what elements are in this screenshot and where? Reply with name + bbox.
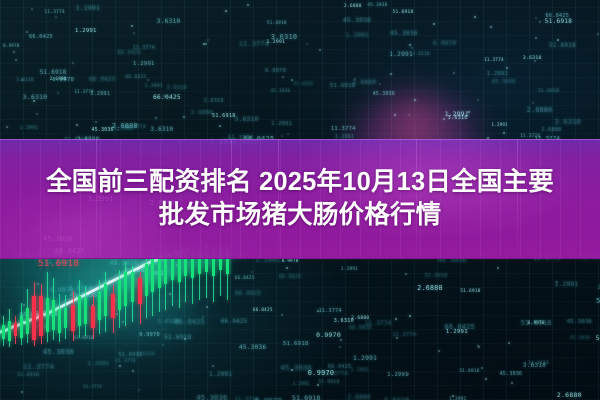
candle-body <box>104 284 107 316</box>
background-spark <box>532 102 534 104</box>
background-data-digit: 1.2991 <box>76 5 101 12</box>
background-data-digit: 51.6918 <box>460 289 480 294</box>
background-spark <box>57 92 59 94</box>
background-data-digit: 51.6918 <box>318 380 339 385</box>
background-data-digit: 1.2991 <box>133 61 155 67</box>
background-spark <box>438 350 440 352</box>
background-spark <box>478 346 480 348</box>
background-spark <box>390 73 392 75</box>
background-spark <box>535 17 537 19</box>
background-spark <box>6 126 8 128</box>
candle-body <box>32 296 36 340</box>
candle-body <box>20 316 23 338</box>
background-data-digit: 51.6918 <box>17 373 39 378</box>
background-spark <box>497 267 499 269</box>
background-data-digit: 1.2991 <box>487 71 509 77</box>
background-spark <box>287 133 289 135</box>
candle-body <box>14 323 17 336</box>
background-spark <box>119 365 121 367</box>
background-data-digit: 0.9970 <box>433 40 456 47</box>
background-spark <box>534 60 536 62</box>
background-data-digit: 3.6310 <box>16 78 34 83</box>
background-spark <box>535 37 537 39</box>
background-data-digit: 51.6918 <box>40 70 67 76</box>
background-spark <box>340 339 342 341</box>
background-spark <box>138 389 140 391</box>
candle-body <box>46 298 49 332</box>
candle-body <box>111 294 115 318</box>
background-data-digit: 2.6880 <box>527 106 553 114</box>
background-spark <box>408 114 410 116</box>
background-data-digit: 1.2991 <box>341 267 358 272</box>
background-data-digit: 1.2991 <box>293 381 310 386</box>
background-data-digit: 51.6918 <box>118 352 142 358</box>
candle-body <box>78 296 81 326</box>
background-spark <box>468 111 470 113</box>
background-data-digit: 51.6918 <box>267 20 287 25</box>
background-spark <box>155 117 157 119</box>
background-data-digit: 11.3774 <box>484 57 504 62</box>
candle-body <box>151 256 154 292</box>
background-data-digit: 51.6918 <box>393 10 414 15</box>
background-data-digit: 66.0425 <box>29 34 53 40</box>
background-spark <box>414 99 416 101</box>
background-spark <box>409 44 411 46</box>
title-band: 1.2991 2.6880 45.3036 66.0425 全国前三配资排名 2… <box>0 139 600 259</box>
background-spark <box>207 39 209 41</box>
background-spark <box>282 76 284 78</box>
background-spark <box>411 47 413 49</box>
background-spark <box>15 59 17 61</box>
background-spark <box>379 83 381 85</box>
background-data-digit: 0.9970 <box>265 68 286 74</box>
background-spark <box>407 373 409 375</box>
background-data-digit: 1.2991 <box>88 361 110 367</box>
background-spark <box>76 124 78 126</box>
background-data-digit: 51.6918 <box>538 89 559 94</box>
background-data-digit: 11.3774 <box>75 89 94 94</box>
candle-body <box>98 292 101 320</box>
candle-body <box>8 321 11 341</box>
background-spark <box>339 346 341 348</box>
background-data-digit: 11.3774 <box>115 359 136 364</box>
background-data-digit: 2.6880 <box>344 4 362 9</box>
background-data-digit: 0.9970 <box>52 77 74 83</box>
candle-body <box>138 278 142 304</box>
background-spark <box>13 51 15 53</box>
background-data-digit: 1.2991 <box>209 372 232 378</box>
candle-body <box>52 300 55 330</box>
background-data-digit: 51.6918 <box>294 81 313 86</box>
background-data-digit: 2.6880 <box>352 79 376 86</box>
background-spark <box>395 318 397 320</box>
candle-body <box>118 280 121 310</box>
background-spark <box>354 78 356 80</box>
background-data-digit: 3.6310 <box>412 52 430 57</box>
background-spark <box>36 113 38 115</box>
candle-body <box>131 272 134 302</box>
background-data-digit: 1.2991 <box>353 355 377 362</box>
background-data-digit: 11.3774 <box>331 126 356 132</box>
background-data-digit: 51.6918 <box>292 395 321 400</box>
background-data-digit: 51.6918 <box>596 336 600 342</box>
candle-body <box>71 305 75 331</box>
background-data-digit: 51.6918 <box>549 43 576 49</box>
background-data-digit: 11.3774 <box>23 363 54 371</box>
background-spark <box>205 43 207 45</box>
background-spark <box>133 32 135 34</box>
background-data-digit: 1.2991 <box>446 329 468 335</box>
background-spark <box>31 8 33 10</box>
background-spark <box>443 118 445 120</box>
banner-title-line-2: 批发市场猪大肠价格行情 <box>159 202 442 229</box>
candle-body <box>84 298 87 324</box>
background-data-digit: 45.3036 <box>196 394 227 400</box>
candle-body <box>26 308 29 334</box>
background-data-digit: 1.2991 <box>387 372 408 378</box>
background-spark <box>291 369 293 371</box>
background-data-digit: 3.6310 <box>334 318 354 324</box>
background-data-digit: 3.6310 <box>204 98 224 104</box>
background-spark <box>183 116 185 118</box>
background-spark <box>212 365 214 367</box>
background-data-digit: 1.2991 <box>145 84 163 89</box>
background-spark <box>453 72 455 74</box>
background-spark <box>26 31 28 33</box>
candle-body <box>58 309 61 333</box>
background-spark <box>557 39 559 41</box>
ticker-value-2: 51.6918 <box>38 259 79 269</box>
background-data-digit: 1.2991 <box>346 33 369 39</box>
background-data-digit: 45.3036 <box>280 364 312 372</box>
background-spark <box>405 273 407 275</box>
banner-title-line-1: 全国前三配资排名 2025年10月13日全国主要 <box>46 169 554 196</box>
candle-body <box>91 306 95 328</box>
candle-body <box>39 296 43 336</box>
background-spark <box>409 315 411 317</box>
background-data-digit: 3.6310 <box>555 118 581 126</box>
background-spark <box>219 125 221 127</box>
background-spark <box>503 132 505 134</box>
background-data-digit: 66.0425 <box>153 94 181 101</box>
background-data-digit: 3.6310 <box>235 116 259 123</box>
background-spark <box>490 26 492 28</box>
background-spark <box>281 135 283 137</box>
background-data-digit: 2.6880 <box>557 391 582 399</box>
background-spark <box>203 43 205 45</box>
background-data-digit: 45.3036 <box>492 79 516 85</box>
banner-title: 全国前三配资排名 2025年10月13日全国主要 批发市场猪大肠价格行情 <box>0 139 600 259</box>
background-data-digit: 66.0425 <box>546 13 570 19</box>
background-data-digit: 1.2991 <box>445 111 469 118</box>
background-data-digit: 45.3036 <box>271 88 291 93</box>
background-data-digit: 1.2991 <box>389 51 413 58</box>
background-data-digit: 2.6880 <box>541 127 562 133</box>
background-data-digit: 45.3036 <box>570 336 590 341</box>
background-data-digit: 3.6310 <box>157 18 181 25</box>
background-data-digit: 3.6310 <box>23 94 48 101</box>
background-spark <box>247 4 249 6</box>
background-data-digit: 2.6880 <box>417 284 443 292</box>
background-data-digit: 3.6310 <box>151 127 174 133</box>
background-data-digit: 51.6918 <box>425 273 448 279</box>
background-data-digit: 45.3036 <box>500 371 523 377</box>
background-spark <box>597 33 599 35</box>
background-spark <box>477 99 479 101</box>
candle-body <box>158 258 161 288</box>
background-data-digit: 45.3036 <box>567 319 592 325</box>
background-data-digit: 1.2991 <box>555 281 579 288</box>
background-data-digit: 11.3774 <box>133 46 155 51</box>
background-spark <box>306 43 308 45</box>
background-spark <box>481 367 483 369</box>
background-data-digit: 1.2991 <box>492 122 508 127</box>
background-data-digit: 11.3774 <box>365 321 392 327</box>
background-data-digit: 45.3036 <box>373 92 395 97</box>
background-spark <box>508 342 510 344</box>
background-data-digit: 1.2991 <box>271 121 292 127</box>
background-data-digit: 66.0425 <box>125 75 146 80</box>
background-data-digit: 2.6880 <box>348 395 371 400</box>
candle-body <box>2 325 5 339</box>
background-spark <box>433 23 435 25</box>
background-data-digit: 0.9970 <box>3 43 20 48</box>
candle-body <box>124 272 127 306</box>
background-data-digit: 45.3036 <box>92 128 114 133</box>
background-data-digit: 11.3774 <box>528 361 549 366</box>
background-data-digit: 1.2991 <box>75 28 97 34</box>
background-data-digit: 45.3036 <box>343 17 371 24</box>
background-data-digit: 3.6310 <box>523 56 542 61</box>
background-data-digit: 11.3774 <box>83 384 102 389</box>
background-data-digit: 11.3774 <box>44 10 65 15</box>
candle-body <box>145 264 148 296</box>
background-spark <box>394 114 396 116</box>
background-data-digit: 3.6310 <box>384 396 409 400</box>
background-data-digit: 45.3036 <box>367 3 387 8</box>
background-spark <box>539 21 541 23</box>
background-spark <box>33 100 35 102</box>
background-data-digit: 1.2991 <box>351 368 369 373</box>
background-spark <box>147 79 149 81</box>
background-spark <box>319 49 321 51</box>
background-data-digit: 2.6880 <box>191 110 213 116</box>
background-data-digit: 66.0425 <box>89 77 116 83</box>
background-spark <box>21 391 23 393</box>
background-data-digit: 1.2991 <box>20 126 39 131</box>
background-spark <box>131 25 133 27</box>
background-spark <box>485 378 487 380</box>
background-data-digit: 11.3774 <box>239 40 269 48</box>
banner-image: 51.69183.631066.042566.042566.04253.6310… <box>0 0 600 400</box>
background-data-digit: 51.6918 <box>521 319 552 327</box>
background-spark <box>95 121 97 123</box>
background-data-digit: 3.6310 <box>167 85 187 91</box>
candle-body <box>64 308 67 328</box>
background-spark <box>317 384 319 386</box>
background-data-digit: 1.2991 <box>267 40 286 45</box>
background-spark <box>55 16 57 18</box>
background-spark <box>132 370 134 372</box>
background-data-digit: 51.6918 <box>212 113 236 119</box>
background-spark <box>474 16 476 18</box>
background-spark <box>225 10 227 12</box>
background-spark <box>72 62 74 64</box>
background-spark <box>506 67 508 69</box>
background-spark <box>511 382 513 384</box>
background-data-digit: 45.3036 <box>390 30 418 37</box>
background-data-digit: 51.6918 <box>596 297 600 305</box>
background-data-digit: 51.6918 <box>459 369 479 374</box>
